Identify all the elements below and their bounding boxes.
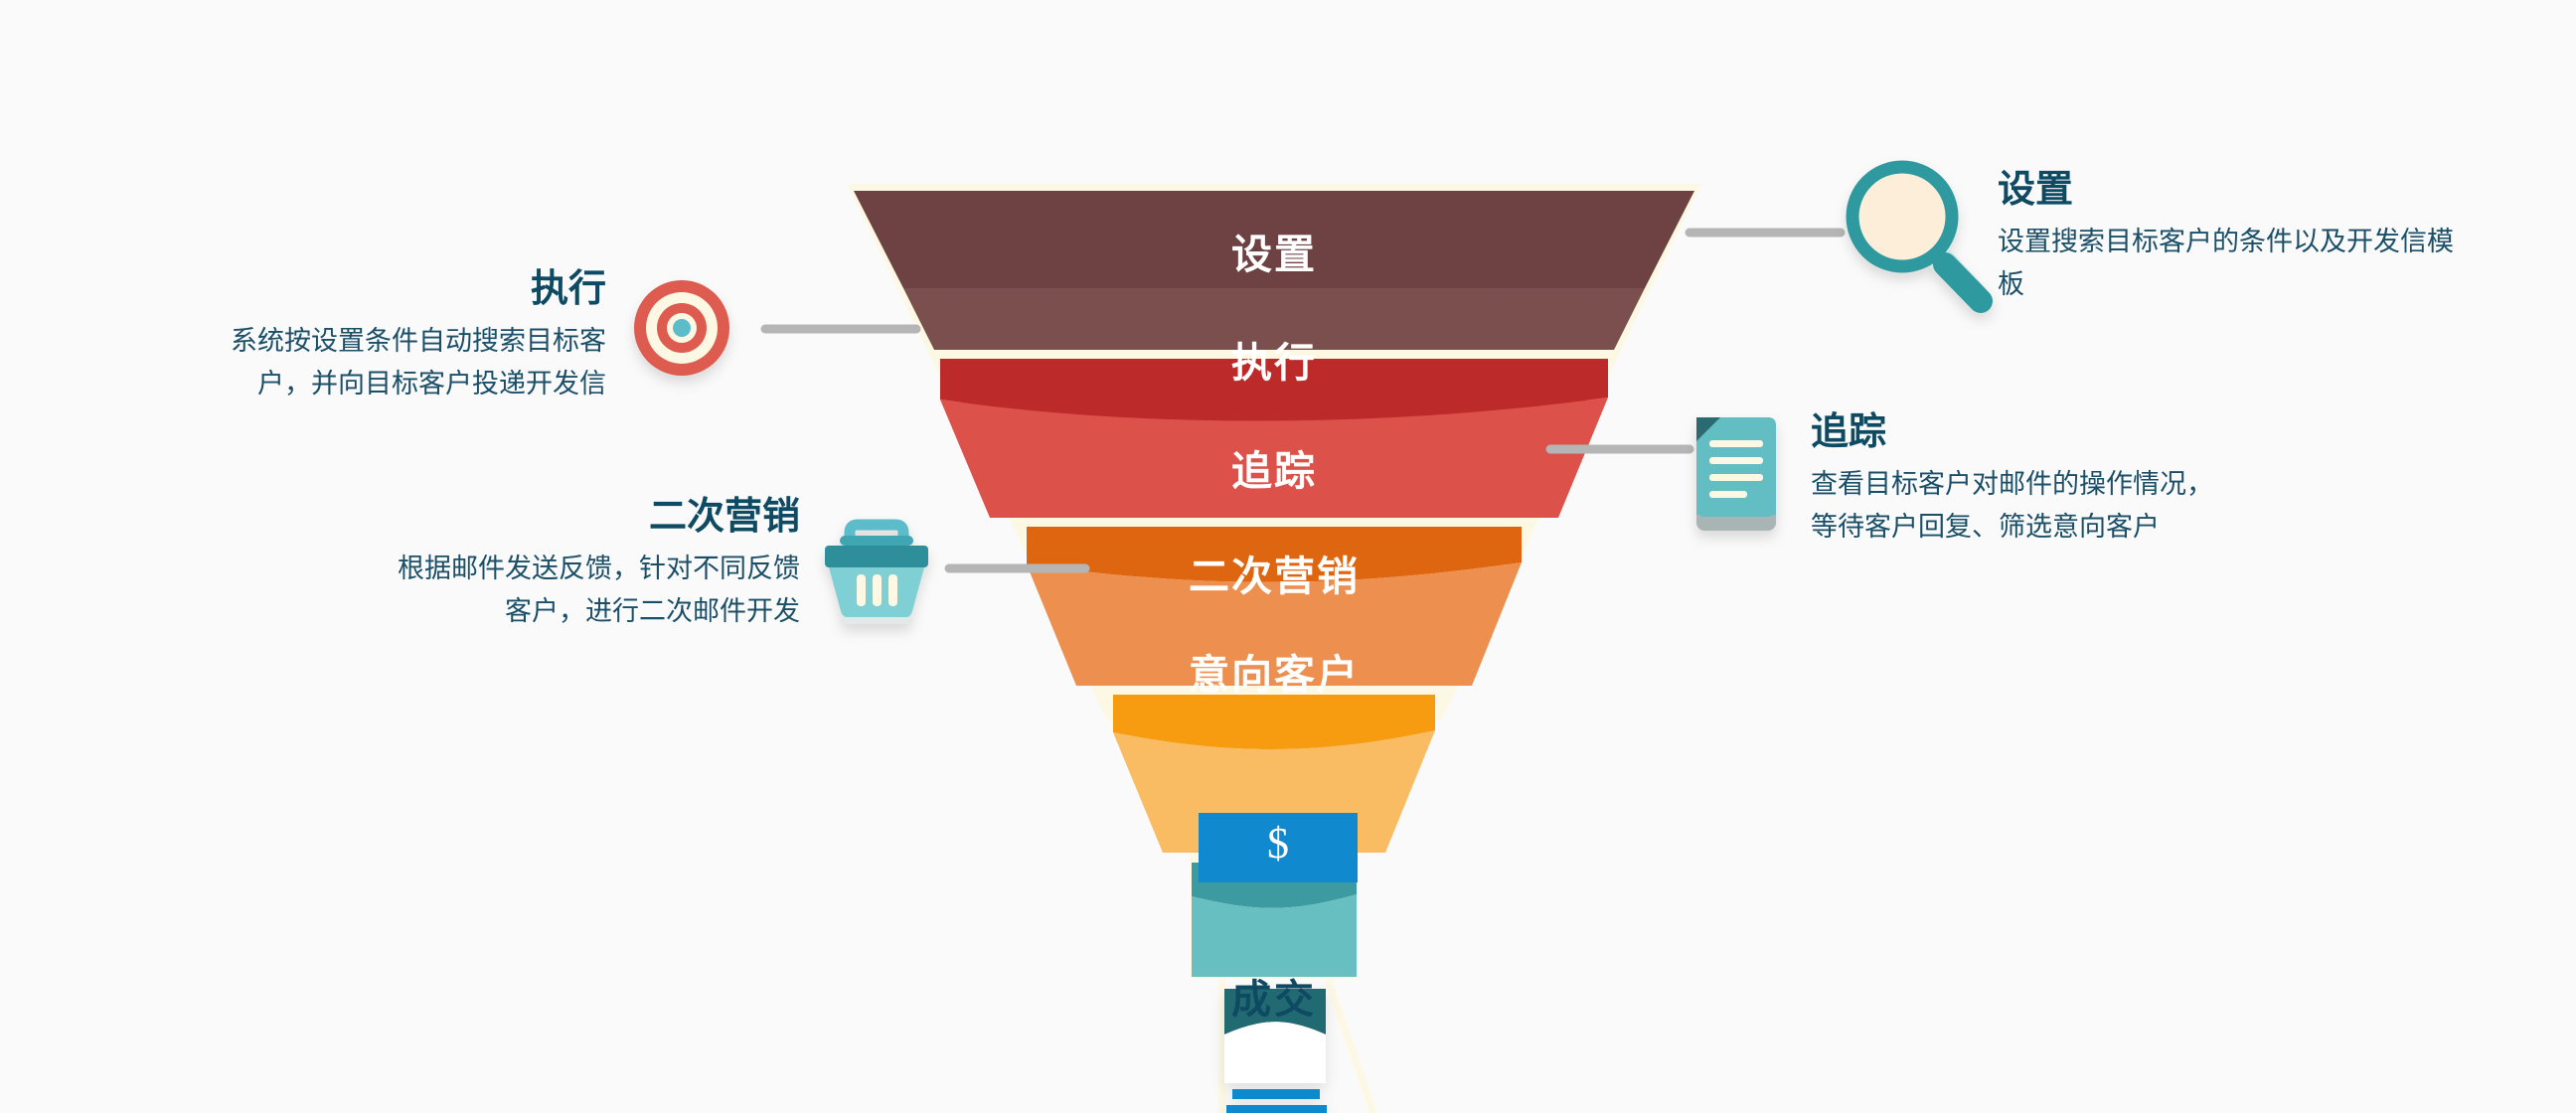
funnel-layer-prospects[interactable] [1192, 863, 1357, 977]
annotation-settings-title: 设置 [1998, 167, 2465, 215]
annotation-settings: 设置 设置搜索目标客户的条件以及开发信模板 [1998, 167, 2465, 307]
annotation-remarketing-title: 二次营销 [383, 494, 800, 542]
deal-label: 成交 [1231, 967, 1317, 1025]
funnel-layer-track[interactable] [1027, 527, 1522, 686]
annotation-track: 追踪 查看目标客户对邮件的操作情况，等待客户回复、筛选意向客户 [1811, 409, 2228, 550]
annotation-remarketing: 二次营销 根据邮件发送反馈，针对不同反馈客户，进行二次邮件开发 [383, 494, 800, 634]
annotation-execute-title: 执行 [189, 266, 606, 314]
annotation-settings-body: 设置搜索目标客户的条件以及开发信模板 [1998, 221, 2465, 307]
funnel-layer-execute[interactable] [940, 359, 1608, 518]
annotation-execute: 执行 系统按设置条件自动搜索目标客户，并向目标客户投递开发信 [189, 266, 606, 406]
funnel-layer-settings[interactable] [854, 191, 1694, 350]
annotation-track-body: 查看目标客户对邮件的操作情况，等待客户回复、筛选意向客户 [1811, 463, 2228, 550]
annotation-remarketing-body: 根据邮件发送反馈，针对不同反馈客户，进行二次邮件开发 [383, 548, 800, 634]
dollar-symbol: $ [1267, 818, 1289, 869]
annotation-track-title: 追踪 [1811, 409, 2228, 457]
annotation-execute-body: 系统按设置条件自动搜索目标客户，并向目标客户投递开发信 [189, 320, 606, 406]
